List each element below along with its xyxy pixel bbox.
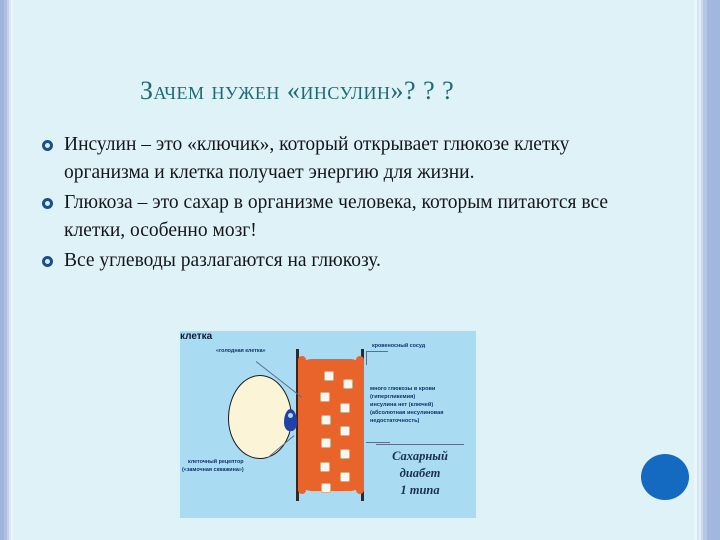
list-item-text: Все углеводы разлагаются на глюкозу. xyxy=(64,247,381,275)
leader-line-blood-h xyxy=(366,442,390,443)
glucose-molecule xyxy=(320,462,330,472)
list-item-text: Инсулин – это «ключик», который открывае… xyxy=(64,131,642,187)
glucose-molecule xyxy=(321,415,331,425)
bullet-ring-icon xyxy=(42,140,53,151)
decorative-blue-circle xyxy=(641,454,689,500)
cell-caption: клетка xyxy=(180,331,476,342)
page-title: Зачем нужен «инсулин»? ? ? xyxy=(140,76,454,106)
bullet-ring-icon xyxy=(42,256,53,267)
label-blood-glucose-line2: (гипергликемия) xyxy=(370,394,415,400)
glucose-molecule xyxy=(324,371,334,381)
leader-line-vessel xyxy=(366,351,367,365)
glucose-molecule xyxy=(340,449,350,459)
label-blood-glucose-line1: много глюкозы в крови xyxy=(370,386,435,392)
diagnosis-line2: диабет xyxy=(370,466,470,482)
left-border-stripe xyxy=(0,0,20,540)
right-border-stripe xyxy=(684,0,720,540)
leader-line-vessel-h xyxy=(366,351,388,352)
glucose-molecule xyxy=(340,403,350,413)
label-blood-glucose-line3: инсулина нет (ключей) xyxy=(370,402,433,408)
label-blood-glucose-line5: недостаточность) xyxy=(370,418,419,424)
diagnosis-line1: Сахарный xyxy=(370,449,470,465)
diabetes-diagram-image: клетка «голодная клетка» кровеносный сос… xyxy=(180,331,476,518)
label-blood-glucose-line4: (абсолютная инсулиновая xyxy=(370,410,443,416)
diagnosis-line3: 1 типа xyxy=(370,483,470,499)
list-item: Все углеводы разлагаются на глюкозу. xyxy=(42,247,642,275)
glucose-molecule xyxy=(321,483,331,493)
bullet-list: Инсулин – это «ключик», который открывае… xyxy=(42,131,642,277)
slide: Зачем нужен «инсулин»? ? ? Инсулин – это… xyxy=(0,0,720,540)
glucose-molecule xyxy=(340,472,350,482)
glucose-molecule xyxy=(340,426,350,436)
cell-receptor-keyhole-icon xyxy=(284,409,297,431)
list-item: Инсулин – это «ключик», который открывае… xyxy=(42,131,642,187)
hungry-cell-shape xyxy=(228,375,292,459)
label-hungry-cell: «голодная клетка» xyxy=(216,348,266,354)
label-cell-receptor-line1: клеточный рецептор xyxy=(188,459,244,465)
glucose-molecule xyxy=(343,379,353,389)
leader-line-diagnosis xyxy=(376,444,464,445)
list-item-text: Глюкоза – это сахар в организме человека… xyxy=(64,189,642,245)
label-cell-receptor-line2: («замочная скважина») xyxy=(182,467,244,473)
label-blood-vessel: кровеносный сосуд xyxy=(372,343,425,349)
bullet-ring-icon xyxy=(42,198,53,209)
glucose-molecule xyxy=(320,392,330,402)
list-item: Глюкоза – это сахар в организме человека… xyxy=(42,189,642,245)
glucose-molecule xyxy=(321,438,331,448)
